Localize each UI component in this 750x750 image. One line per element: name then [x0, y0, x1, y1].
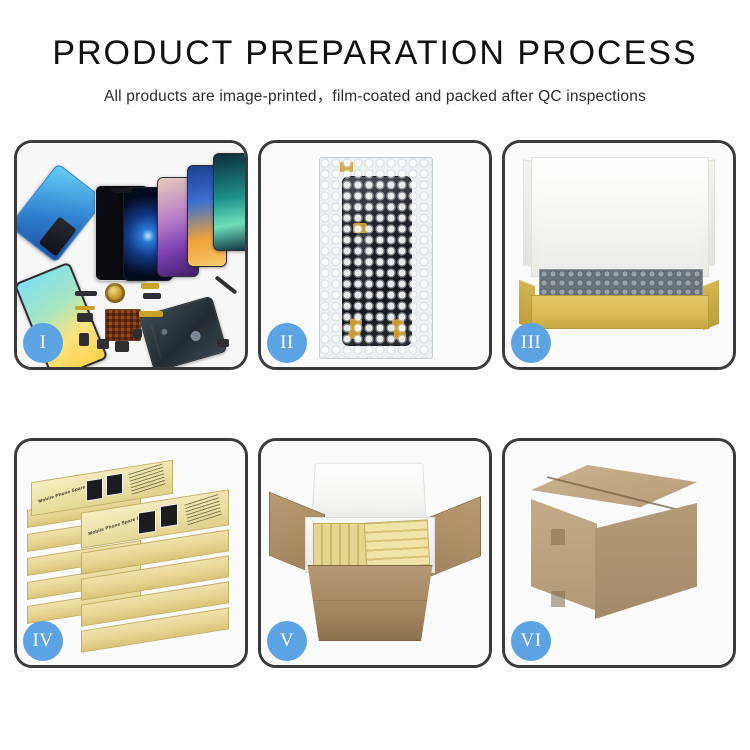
bubble-texture — [320, 158, 432, 358]
part-flex-cable-2 — [139, 311, 163, 317]
part-connector-6 — [133, 329, 142, 338]
step-badge-3: III — [511, 323, 551, 363]
carton-tab-lower — [551, 591, 565, 607]
foam-lid — [311, 463, 427, 526]
process-step-1[interactable]: I Mobile phone screens, LCD assemblies a… — [14, 140, 248, 370]
step-badge-1: I — [23, 323, 63, 363]
shipping-carton-open — [299, 565, 441, 641]
speaker-coil-part — [105, 283, 125, 303]
step-badge-5: V — [267, 621, 307, 661]
box-screen-art-2 — [106, 473, 123, 497]
part-connector-5 — [115, 341, 129, 352]
step-badge-2: II — [267, 323, 307, 363]
bubble-wrap-bag — [319, 157, 433, 359]
kraft-box-front — [531, 295, 709, 329]
packed-boxes-row-2 — [364, 519, 430, 568]
box-inner-wall — [539, 189, 699, 273]
box-screen-art-1 — [86, 478, 103, 502]
carton-flap-right — [427, 496, 481, 578]
part-connector-7 — [143, 293, 161, 299]
process-step-grid: I Mobile phone screens, LCD assemblies a… — [14, 140, 736, 668]
header: PRODUCT PREPARATION PROCESS All products… — [0, 0, 750, 106]
part-connector-1 — [75, 291, 97, 296]
phone-teal-wallpaper — [213, 153, 245, 251]
process-step-3[interactable]: III Open kraft carton lined with white f… — [502, 140, 736, 370]
part-flex-cable-1 — [141, 283, 159, 289]
carton-tab-upper — [551, 529, 565, 545]
carton-right-face — [595, 503, 697, 619]
part-connector-2 — [77, 313, 93, 322]
screw-set — [217, 339, 229, 347]
page-subtitle: All products are image-printed，film-coat… — [0, 84, 750, 106]
page-title: PRODUCT PREPARATION PROCESS — [0, 36, 750, 72]
process-step-2[interactable]: II LCD screen assembly wrapped in bubble… — [258, 140, 492, 370]
process-step-4[interactable]: Mobile Phone Spare Parts Mobile Phone Sp… — [14, 438, 248, 668]
process-step-5[interactable]: V Shipping carton with foam liner filled… — [258, 438, 492, 668]
process-step-6[interactable]: VI Sealed brown shipping carton ready fo… — [502, 438, 736, 668]
step-badge-6: VI — [511, 621, 551, 661]
box-screen-art-4 — [160, 503, 178, 528]
product-preparation-infographic: PRODUCT PREPARATION PROCESS All products… — [0, 0, 750, 750]
part-connector-4 — [97, 339, 109, 349]
step-badge-4: IV — [23, 621, 63, 661]
part-flex-cable-3 — [75, 306, 95, 310]
box-screen-art-3 — [138, 510, 156, 535]
part-connector-3 — [79, 333, 89, 346]
